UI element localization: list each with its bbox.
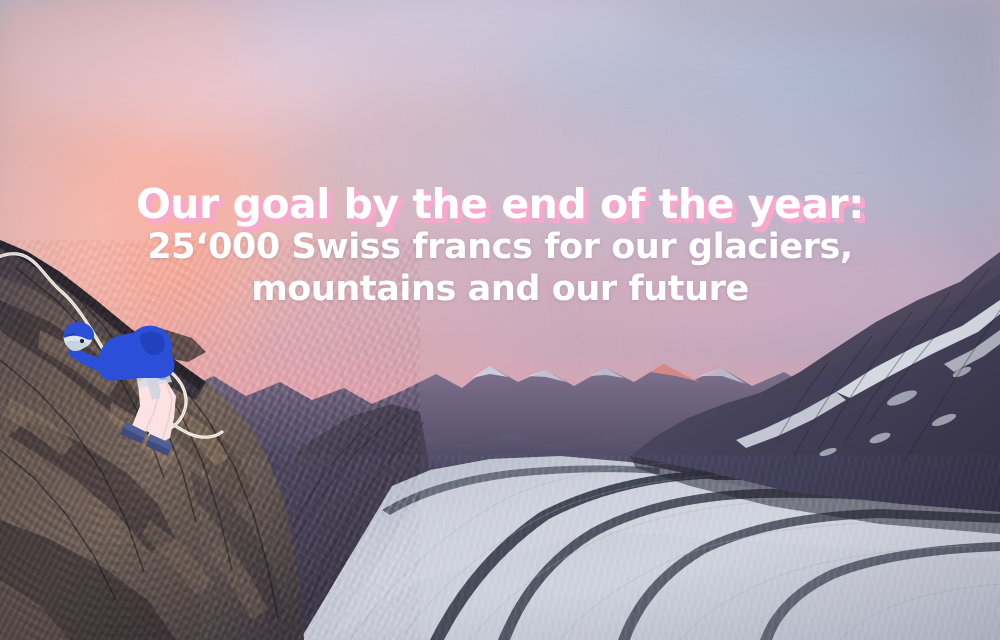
- hero-banner: Our goal by the end of the year: 25‘000 …: [0, 0, 1000, 640]
- climber-helmet: [64, 322, 94, 351]
- climber-illustration: [0, 240, 300, 470]
